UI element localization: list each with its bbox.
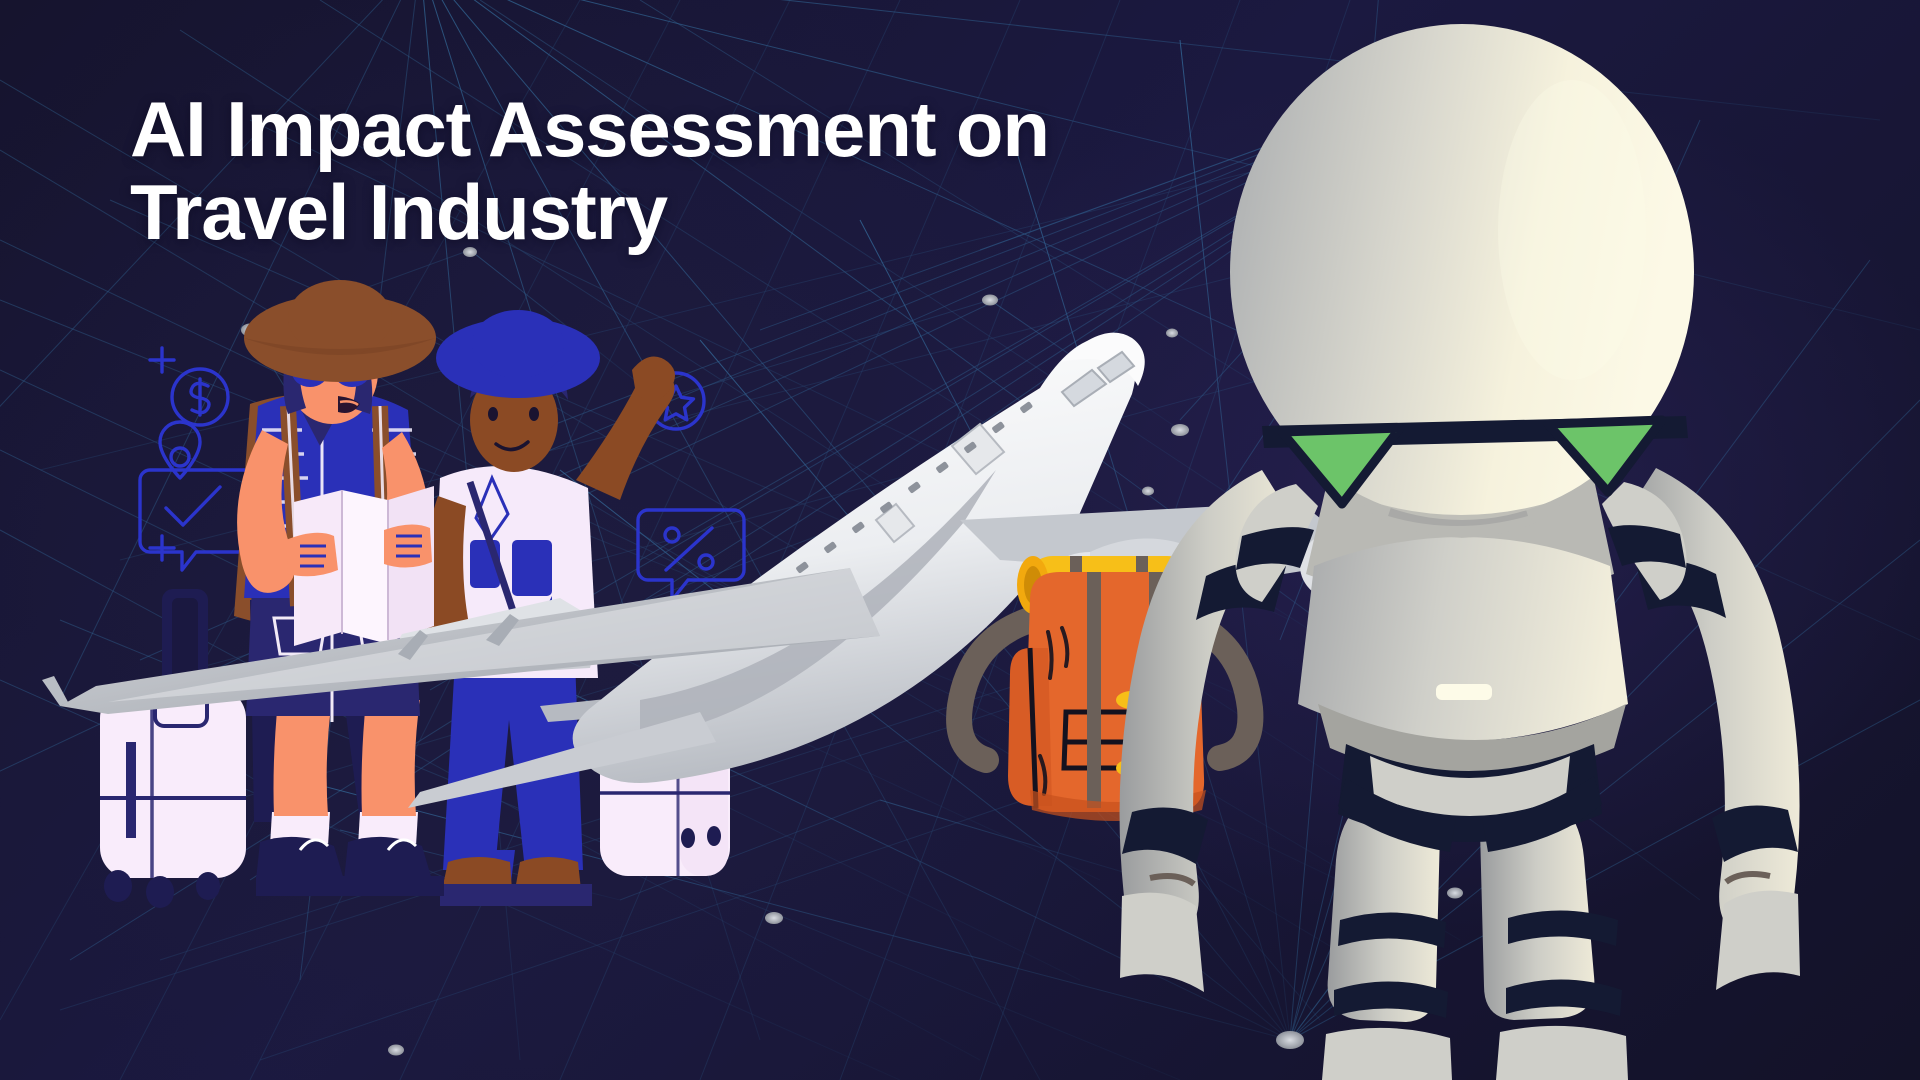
hero-title-text: AI Impact Assessment on Travel Industry	[130, 88, 1230, 253]
page-title: AI Impact Assessment on Travel Industry	[130, 88, 1230, 253]
hero-banner: AI Impact Assessment on Travel Industry	[0, 0, 1920, 1080]
